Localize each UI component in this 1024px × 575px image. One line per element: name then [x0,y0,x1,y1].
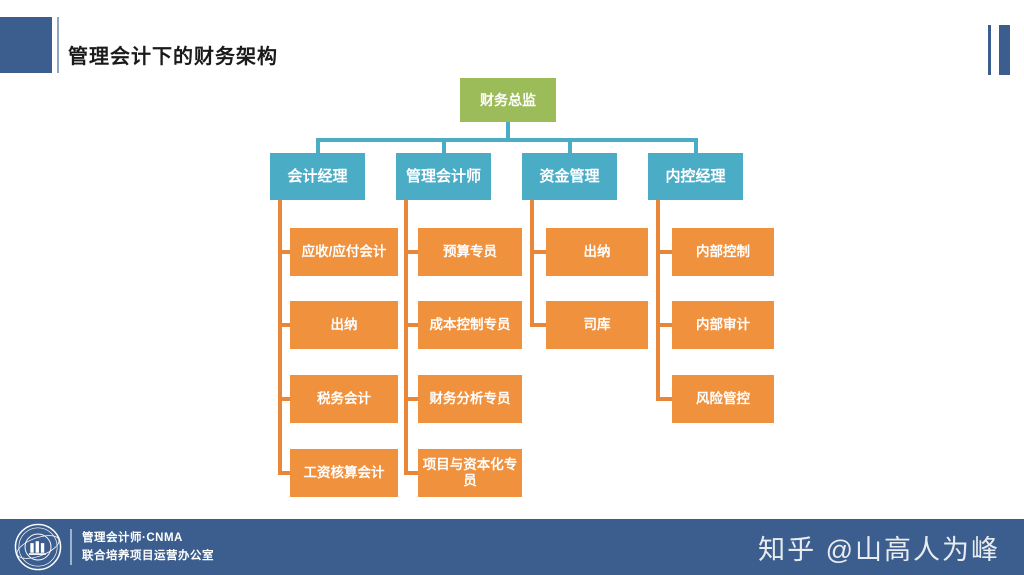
connector-stub-3-0 [658,250,672,254]
node-level3-0-1[interactable]: 出纳 [290,301,398,349]
connector-spine-2 [530,200,534,327]
title-accent-block [0,17,52,73]
connector-level2-drop-2 [568,138,572,153]
connector-spine-3 [656,200,660,401]
connector-stub-2-0 [532,250,546,254]
node-level3-1-2[interactable]: 财务分析专员 [418,375,522,423]
connector-level2-rail [316,138,698,142]
node-level2-0-label: 会计经理 [287,168,347,185]
node-level3-0-2[interactable]: 税务会计 [290,375,398,423]
node-level2-3-label: 内控经理 [665,168,725,185]
footer-line-1: 管理会计师·CNMA [82,529,214,547]
connector-stub-3-1 [658,323,672,327]
page-title: 管理会计下的财务架构 [68,40,278,69]
node-level3-3-2-label: 风险管控 [696,391,750,407]
node-level3-1-3-label: 项目与资本化专员 [422,457,518,488]
connector-stub-2-1 [532,323,546,327]
node-level2-3[interactable]: 内控经理 [648,153,743,200]
node-level3-0-0[interactable]: 应收/应付会计 [290,228,398,276]
cnma-seal-logo-icon [14,523,62,571]
connector-stub-1-3 [406,471,418,475]
connector-root-drop [506,122,510,138]
node-level3-1-3[interactable]: 项目与资本化专员 [418,449,522,497]
node-level3-1-0[interactable]: 预算专员 [418,228,522,276]
slide-canvas: 管理会计下的财务架构 财务总监会计经理管理会计师资金管理内控经理应收/应付会计出… [0,0,1024,575]
connector-stub-1-1 [406,323,418,327]
node-level3-3-1[interactable]: 内部审计 [672,301,774,349]
top-right-bar-thick [999,25,1010,75]
connector-stub-1-2 [406,397,418,401]
node-level2-2[interactable]: 资金管理 [522,153,617,200]
node-level2-0[interactable]: 会计经理 [270,153,365,200]
connector-stub-0-2 [280,397,290,401]
node-level3-2-1[interactable]: 司库 [546,301,648,349]
node-level3-0-1-label: 出纳 [331,317,358,333]
node-level3-3-2[interactable]: 风险管控 [672,375,774,423]
node-level3-1-2-label: 财务分析专员 [430,391,511,407]
title-divider-rule [57,17,59,73]
watermark-text: 知乎 @山高人为峰 [758,528,1000,567]
connector-spine-1 [404,200,408,475]
connector-spine-0 [278,200,282,475]
footer-line-2: 联合培养项目运营办公室 [82,547,214,565]
node-level3-3-0-label: 内部控制 [696,244,750,260]
node-level2-1-label: 管理会计师 [406,168,481,185]
node-level3-2-0[interactable]: 出纳 [546,228,648,276]
node-level3-2-1-label: 司库 [584,317,611,333]
node-level3-1-0-label: 预算专员 [443,244,497,260]
node-level3-1-1[interactable]: 成本控制专员 [418,301,522,349]
node-level2-1[interactable]: 管理会计师 [396,153,491,200]
node-level3-0-0-label: 应收/应付会计 [302,244,387,260]
connector-level2-drop-0 [316,138,320,153]
node-level3-3-1-label: 内部审计 [696,317,750,333]
footer-divider [70,529,72,565]
footer-org-text: 管理会计师·CNMA 联合培养项目运营办公室 [82,529,214,565]
node-level3-0-2-label: 税务会计 [317,391,371,407]
top-right-bar-thin [988,25,991,75]
connector-stub-1-0 [406,250,418,254]
node-root[interactable]: 财务总监 [460,78,556,122]
connector-stub-0-1 [280,323,290,327]
footer-bar: 管理会计师·CNMA 联合培养项目运营办公室 知乎 @山高人为峰 [0,519,1024,575]
connector-level2-drop-3 [694,138,698,153]
node-level3-3-0[interactable]: 内部控制 [672,228,774,276]
connector-level2-drop-1 [442,138,446,153]
node-level3-2-0-label: 出纳 [584,244,611,260]
connector-stub-0-3 [280,471,290,475]
connector-stub-0-0 [280,250,290,254]
node-root-label: 财务总监 [480,92,536,108]
node-level3-0-3-label: 工资核算会计 [304,465,385,481]
connector-stub-3-2 [658,397,672,401]
node-level3-1-1-label: 成本控制专员 [430,317,511,333]
node-level2-2-label: 资金管理 [539,168,599,185]
node-level3-0-3[interactable]: 工资核算会计 [290,449,398,497]
